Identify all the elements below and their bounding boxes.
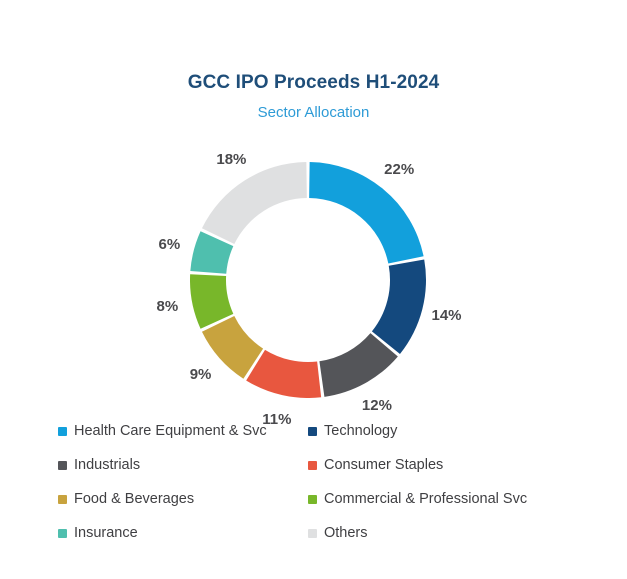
legend-item[interactable]: Commercial & Professional Svc	[308, 482, 598, 516]
chart-legend: Health Care Equipment & SvcTechnologyInd…	[58, 414, 598, 550]
legend-swatch-icon	[308, 461, 317, 470]
legend-item[interactable]: Industrials	[58, 448, 308, 482]
data-label: 9%	[190, 366, 212, 383]
legend-item-label: Technology	[324, 423, 397, 439]
data-label: 6%	[158, 236, 180, 253]
donut-chart	[190, 162, 426, 398]
legend-item-label: Food & Beverages	[74, 491, 194, 507]
legend-swatch-icon	[58, 427, 67, 436]
legend-item-label: Others	[324, 525, 368, 541]
legend-swatch-icon	[308, 427, 317, 436]
chart-subtitle: Sector Allocation	[0, 104, 627, 121]
legend-swatch-icon	[308, 495, 317, 504]
legend-item[interactable]: Others	[308, 516, 598, 550]
legend-item-label: Commercial & Professional Svc	[324, 491, 527, 507]
legend-swatch-icon	[308, 529, 317, 538]
legend-item-label: Consumer Staples	[324, 457, 443, 473]
legend-item-label: Insurance	[74, 525, 138, 541]
data-label: 12%	[362, 397, 392, 414]
legend-item-label: Health Care Equipment & Svc	[74, 423, 267, 439]
legend-swatch-icon	[58, 495, 67, 504]
legend-item[interactable]: Insurance	[58, 516, 308, 550]
donut-slice-group	[190, 162, 426, 398]
data-label: 18%	[216, 151, 246, 168]
legend-item[interactable]: Food & Beverages	[58, 482, 308, 516]
legend-item[interactable]: Consumer Staples	[308, 448, 598, 482]
legend-item[interactable]: Health Care Equipment & Svc	[58, 414, 308, 448]
data-label: 22%	[384, 161, 414, 178]
donut-slice[interactable]	[202, 162, 307, 244]
legend-swatch-icon	[58, 529, 67, 538]
chart-title: GCC IPO Proceeds H1-2024	[0, 72, 627, 94]
data-label: 14%	[432, 307, 462, 324]
chart-card: GCC IPO Proceeds H1-2024 Sector Allocati…	[0, 0, 627, 579]
donut-chart-svg	[190, 162, 426, 398]
data-label: 8%	[157, 298, 179, 315]
legend-item[interactable]: Technology	[308, 414, 598, 448]
donut-slice[interactable]	[372, 260, 426, 354]
legend-item-label: Industrials	[74, 457, 140, 473]
legend-swatch-icon	[58, 461, 67, 470]
